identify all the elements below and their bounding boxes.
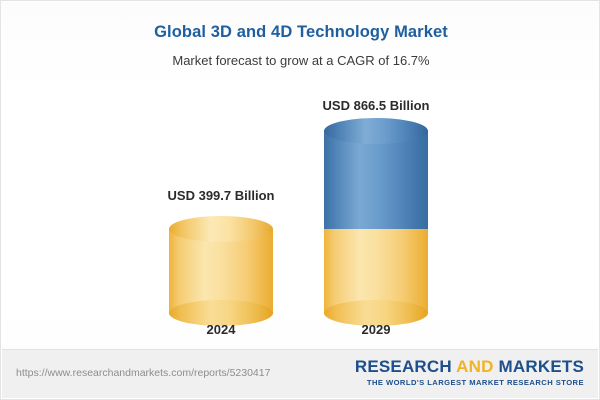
bar-2029-body [324,131,428,313]
bar-2024-segment-base [169,229,273,313]
footer: https://www.researchandmarkets.com/repor… [2,349,598,398]
category-label-2029: 2029 [306,322,446,337]
report-url[interactable]: https://www.researchandmarkets.com/repor… [16,367,270,379]
chart-card: Global 3D and 4D Technology Market Marke… [0,0,600,400]
bar-2029-segment-growth [324,131,428,229]
chart-area: Global 3D and 4D Technology Market Marke… [1,1,600,349]
chart-title: Global 3D and 4D Technology Market [1,23,600,42]
bar-2024-top-cap [169,216,273,242]
bar-2029-top-cap [324,118,428,144]
bar-2029-growth-side [324,131,428,229]
bar-2029-segment-base [324,229,428,313]
chart-subtitle: Market forecast to grow at a CAGR of 16.… [1,53,600,68]
bar-2024 [169,229,273,313]
bar-2029 [324,131,428,313]
value-label-2029: USD 866.5 Billion [306,98,446,113]
value-label-2024: USD 399.7 Billion [151,188,291,203]
logo-tagline: THE WORLD'S LARGEST MARKET RESEARCH STOR… [355,378,584,387]
logo-wordmark: RESEARCH AND MARKETS [355,358,584,376]
logo-word-markets: MARKETS [499,357,584,376]
logo-word-research: RESEARCH [355,357,452,376]
category-label-2024: 2024 [151,322,291,337]
bar-2024-body [169,229,273,313]
logo-word-and: AND [452,357,499,376]
brand-logo[interactable]: RESEARCH AND MARKETS THE WORLD'S LARGEST… [355,358,584,387]
